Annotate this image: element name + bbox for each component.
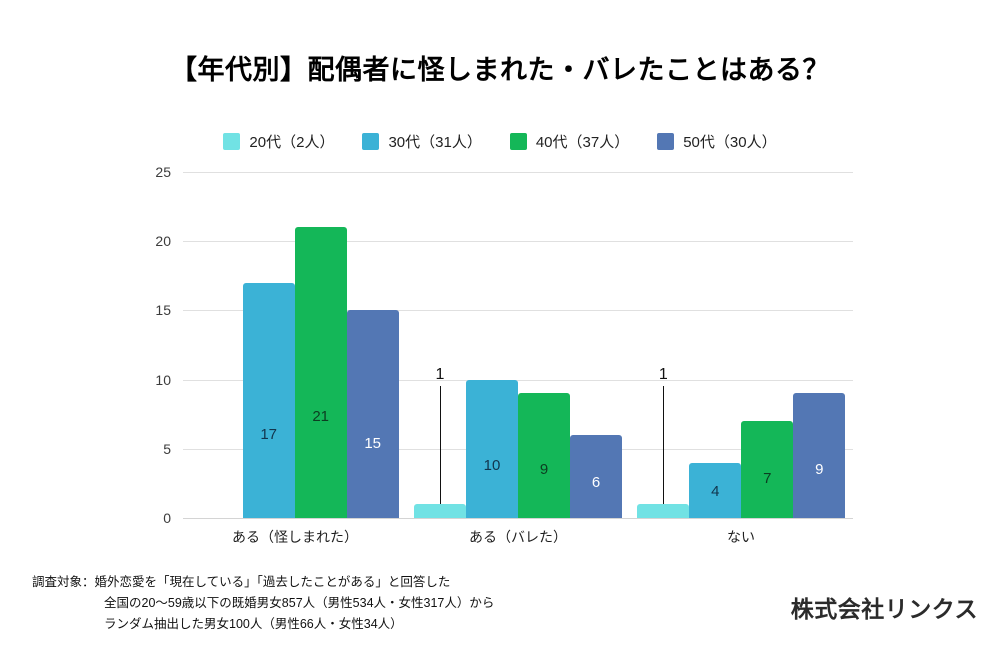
bar-value-label: 10 [466, 457, 518, 474]
bar-value-label: 15 [347, 435, 399, 452]
x-axis-label-0: ある（怪しまれた） [183, 527, 407, 547]
y-axis-tick-label: 20 [127, 233, 171, 249]
x-axis-label-1: ある（バレた） [406, 527, 630, 547]
bar-value-label: 9 [518, 461, 570, 478]
bars-layer: 172115110961479 [183, 172, 853, 518]
bar[interactable] [637, 504, 689, 518]
legend-swatch-icon [657, 133, 674, 150]
legend-item-40dai[interactable]: 40代（37人） [510, 131, 629, 152]
bar-value-label: 21 [295, 408, 347, 425]
bar[interactable]: 4 [689, 463, 741, 518]
bar-value-label: 1 [648, 366, 678, 384]
gridline [183, 518, 853, 519]
callout-leader-line [440, 386, 441, 512]
brand-name: 株式会社リンクス [791, 590, 978, 624]
bar[interactable]: 17 [243, 283, 295, 518]
y-axis-tick-label: 15 [127, 302, 171, 318]
bar[interactable] [414, 504, 466, 518]
legend-item-50dai[interactable]: 50代（30人） [657, 131, 776, 152]
legend-swatch-icon [362, 133, 379, 150]
legend-swatch-icon [510, 133, 527, 150]
legend-item-20dai[interactable]: 20代（2人） [223, 131, 334, 152]
legend-label: 40代（37人） [536, 131, 629, 152]
y-axis-tick-label: 0 [127, 510, 171, 526]
footnote-line-3: ランダム抽出した男女100人（男性66人・女性34人） [32, 614, 494, 635]
bar-value-label: 4 [689, 483, 741, 500]
bar[interactable]: 7 [741, 421, 793, 518]
footnote-line-2: 全国の20〜59歳以下の既婚男女857人（男性534人・女性317人）から [32, 593, 494, 614]
y-axis-tick-label: 10 [127, 372, 171, 388]
x-axis-label-2: ない [629, 527, 853, 547]
bar-value-label: 17 [243, 426, 295, 443]
legend-swatch-icon [223, 133, 240, 150]
bar[interactable]: 6 [570, 435, 622, 518]
bar-value-label: 7 [741, 470, 793, 487]
y-axis-tick-label: 25 [127, 164, 171, 180]
footnote-line-1: 調査対象：婚外恋愛を「現在している」「過去したことがある」と回答した [32, 572, 494, 593]
chart-plot-area: 0510152025 172115110961479 [183, 172, 853, 518]
footnote: 調査対象：婚外恋愛を「現在している」「過去したことがある」と回答した 全国の20… [32, 572, 494, 635]
bar[interactable]: 9 [793, 393, 845, 518]
bar[interactable]: 21 [295, 227, 347, 518]
bar[interactable]: 15 [347, 310, 399, 518]
legend-item-30dai[interactable]: 30代（31人） [362, 131, 481, 152]
legend-label: 50代（30人） [683, 131, 776, 152]
legend-label: 20代（2人） [249, 131, 334, 152]
bar-value-label: 1 [425, 366, 455, 384]
bar-value-label: 6 [570, 474, 622, 491]
y-axis-tick-label: 5 [127, 441, 171, 457]
bar[interactable]: 9 [518, 393, 570, 518]
bar[interactable]: 10 [466, 380, 518, 518]
bar-value-label: 9 [793, 461, 845, 478]
callout-leader-line [663, 386, 664, 512]
legend-label: 30代（31人） [388, 131, 481, 152]
chart-legend: 20代（2人） 30代（31人） 40代（37人） 50代（30人） [0, 131, 1000, 152]
page-title: 【年代別】配偶者に怪しまれた・バレたことはある？ [0, 48, 1000, 87]
